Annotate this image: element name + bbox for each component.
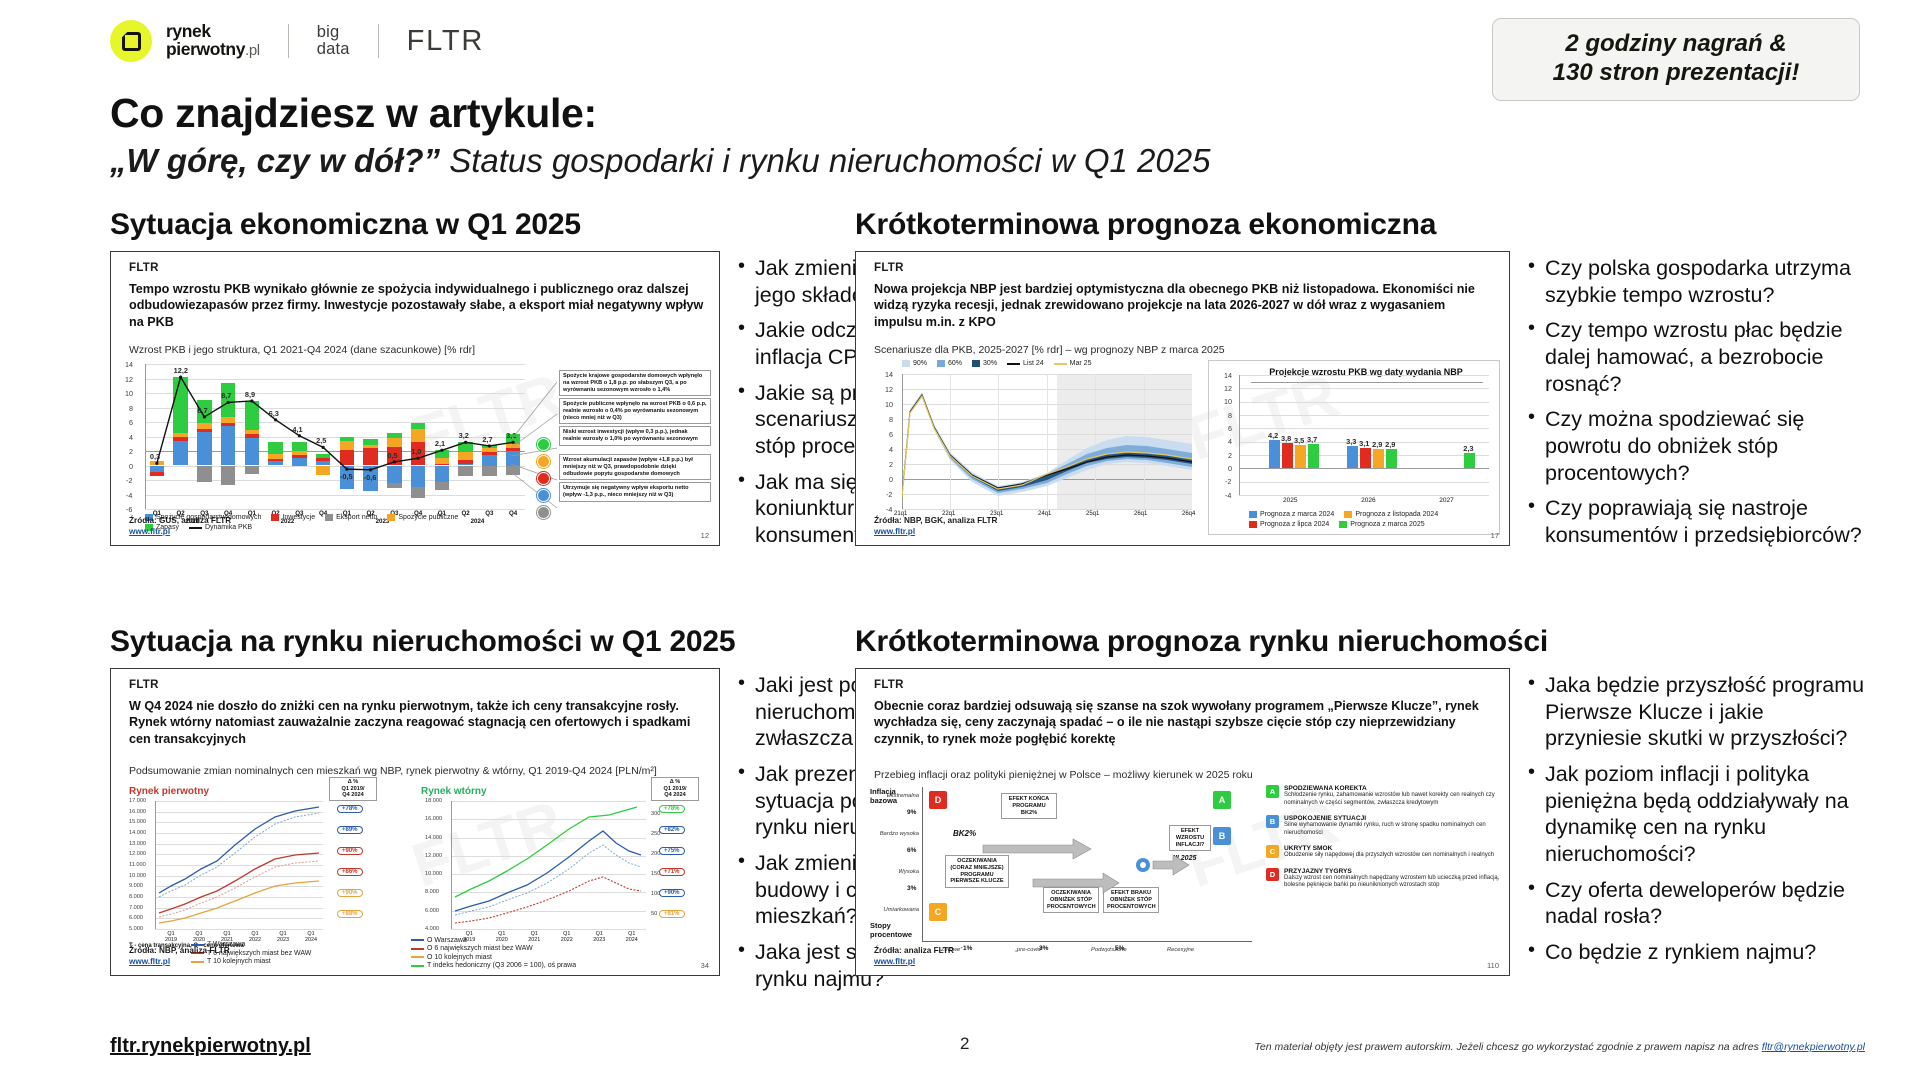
data-label: -0,5	[340, 472, 353, 481]
list-item: Co będzie z rynkiem najmu?	[1526, 939, 1865, 966]
scenario-text: Schłodzenie rynku, zahamowanie wzrostów …	[1284, 792, 1504, 807]
delta-header-l1: Δ %	[331, 779, 375, 786]
scenario-letter-badge: B	[1266, 815, 1279, 828]
legend-item: Spożycie publiczne	[387, 514, 458, 521]
data-label: 12,2	[174, 366, 188, 375]
data-label: 3,8	[1281, 434, 1291, 443]
page-subtitle: „W górę, czy w dół?” Status gospodarki i…	[110, 142, 1210, 180]
footer-legal-email[interactable]: fltr@rynekpierwotny.pl	[1762, 1041, 1865, 1053]
legend-item: O 10 kolejnych miast	[411, 954, 661, 961]
data-label: 8,9	[245, 390, 255, 399]
bigdata-line2: data	[317, 41, 350, 58]
y-tick-label: 9.000	[129, 883, 143, 889]
scenario-title: SPODZIEWANA KOREKTA	[1284, 785, 1504, 792]
data-label: 3,5	[1294, 436, 1304, 445]
y-tick-label: 17.000	[129, 798, 146, 804]
card-page-number: 17	[1491, 531, 1499, 540]
panel-title-primary-market: Rynek pierwotny	[129, 786, 209, 797]
data-label: 2,1	[435, 439, 445, 448]
matrix-x-label: „pre-covid”	[1015, 947, 1085, 953]
card-source-text: Źródła: NBP, BGK, analiza FLTR	[874, 515, 997, 526]
card-fltr-tag: FLTR	[874, 679, 904, 691]
legend-label: Prognoza z marca 2025	[1350, 521, 1424, 528]
data-label: -0,6	[364, 473, 377, 482]
brand-name-tld: .pl	[245, 42, 260, 59]
matrix-y-value: 3%	[907, 885, 916, 892]
up-arrow-icon	[537, 438, 550, 451]
scenario-title: UKRYTY SMOK	[1284, 845, 1494, 852]
card-headline: Nowa projekcja NBP jest bardziej optymis…	[874, 281, 1495, 330]
data-label: 3,1	[1359, 439, 1369, 448]
card-page-number: 12	[701, 531, 709, 540]
data-label: 6,3	[269, 409, 279, 418]
block-icon	[537, 506, 550, 519]
legend-label: O 10 kolejnych miast	[427, 954, 492, 961]
list-item: Jak poziom inflacji i polityka pieniężna…	[1526, 761, 1865, 868]
card-subtitle: Podsumowanie zmian nominalnych cen miesz…	[129, 765, 705, 777]
legend-item: 60%	[937, 360, 962, 367]
y-tick-label: 16.000	[129, 809, 146, 815]
data-label: 2,9	[1385, 440, 1395, 449]
subtitle-rest: Status gospodarki i rynku nieruchomości …	[440, 142, 1210, 179]
scenario-text: Silne wyhamowanie dynamiki rynku, ruch w…	[1284, 822, 1504, 837]
y-tick-label: 5.000	[129, 926, 143, 932]
y-tick-label: 14.000	[425, 835, 442, 841]
chart-card-inflation-matrix[interactable]: FLTR FLTR Obecnie coraz bardziej odsuwaj…	[855, 668, 1510, 976]
secondary-market-plot: 18.00016.00014.00012.00010.0008.0006.000…	[451, 801, 646, 929]
bar	[1347, 446, 1358, 468]
legend-color-swatch	[387, 514, 395, 521]
chart-callout: Wzrost akumulacji zapasów (wpływ +1,8 p.…	[559, 454, 711, 480]
list-item: Czy tempo wzrostu płac będzie dalej hamo…	[1526, 317, 1865, 397]
data-label: 0,5	[387, 451, 397, 460]
scenario-list: ASPODZIEWANA KOREKTASchłodzenie rynku, z…	[1266, 785, 1504, 898]
bar	[1360, 448, 1371, 469]
y-tick-label: 14.000	[129, 830, 146, 836]
chart-callout: Utrzymuje się negatywny wpływ eksportu n…	[559, 482, 711, 502]
legend-item: Eksport netto	[325, 514, 377, 521]
delta-badge: +78%	[659, 805, 685, 813]
delta-badge: +78%	[337, 805, 363, 813]
data-label: 2,5	[316, 436, 326, 445]
brand-divider-1	[288, 24, 289, 58]
delta-badge: +75%	[659, 847, 685, 855]
delta-badge: +90%	[337, 889, 363, 897]
card-page-number: 34	[701, 961, 709, 970]
legend-item: Prognoza z lipca 2024	[1249, 521, 1329, 528]
legend-label: 60%	[948, 360, 962, 367]
data-label: 8,7	[221, 391, 231, 400]
footer-legal-text: Ten materiał objęty jest prawem autorski…	[1254, 1041, 1761, 1053]
legend-color-swatch	[1249, 511, 1257, 518]
legend-label: Eksport netto	[336, 514, 377, 521]
projections-legend: Prognoza z marca 2024Prognoza z listopad…	[1249, 511, 1493, 528]
y-tick-label: 12.000	[129, 851, 146, 857]
data-label: 4,2	[1268, 431, 1278, 440]
x-tick-label: Q3	[478, 510, 502, 517]
matrix-x-value: 1%	[963, 945, 972, 952]
delta-header-r3: Q4 2024	[653, 792, 697, 799]
legend-label: 90%	[913, 360, 927, 367]
legend-line-swatch	[1007, 363, 1020, 365]
legend-item: O Warszawa	[411, 937, 661, 944]
brand-divider-2	[378, 24, 379, 58]
y-tick-label: 11.000	[129, 862, 146, 868]
y-tick-label: 18.000	[425, 798, 442, 804]
inflation-matrix-plot: EkstremalnaBardzo wysokaWysokaUmiarkowan…	[922, 787, 1252, 942]
page-title: Co znajdziesz w artykule:	[110, 90, 597, 137]
matrix-y-label: Umiarkowana	[871, 907, 919, 913]
data-label: 2,7	[482, 435, 492, 444]
brand-logo: rynek pierwotny.pl big data FLTR	[110, 20, 484, 62]
legend-label: Prognoza z lipca 2024	[1260, 521, 1329, 528]
data-label: 2,3	[1463, 444, 1473, 453]
data-label: 6,7	[197, 406, 207, 415]
card-subtitle: Wzrost PKB i jego struktura, Q1 2021-Q4 …	[129, 344, 705, 356]
y-tick-label: 6.000	[129, 915, 143, 921]
chart-callout: Niski wzrost inwestycji (wpływ 0,3 p.p.)…	[559, 426, 711, 446]
data-label: 0,3	[150, 452, 160, 461]
x-tick-label: 2027	[1439, 497, 1453, 504]
card-headline: Obecnie coraz bardziej odsuwają się szan…	[874, 698, 1495, 747]
delta-header-r1: Δ %	[653, 779, 697, 786]
fan-chart-plot: 14 12 10 8 6 4 2 0 -2 -4	[902, 374, 1192, 509]
x-tick-label: 24q1	[1038, 511, 1051, 517]
legend-color-swatch	[972, 360, 980, 367]
data-label: 2,9	[1372, 440, 1382, 449]
list-item: Jaka będzie przyszłość programu Pierwsze…	[1526, 672, 1865, 752]
legend-item: List 24	[1007, 360, 1044, 367]
card-source: Źródła: NBP, analiza FLTR www.fltr.pl	[129, 945, 230, 967]
delta-badge: +90%	[337, 847, 363, 855]
y2-tick-label: 300	[651, 811, 660, 817]
card-headline: W Q4 2024 nie doszło do zniżki cen na ry…	[129, 698, 705, 747]
slash-circle-icon	[537, 489, 550, 502]
legend-line-swatch	[411, 965, 424, 967]
card-page-number: 110	[1487, 961, 1499, 970]
section-economic-forecast: Krótkoterminowa prognoza ekonomiczna FLT…	[855, 208, 1865, 558]
delta-badge: +88%	[337, 910, 363, 918]
legend-line-swatch	[411, 956, 424, 958]
delta-header-left: Δ % Q1 2019/ Q4 2024	[329, 777, 377, 801]
x-tick-label: 26q1	[1134, 511, 1147, 517]
matrix-arrows	[923, 787, 1253, 942]
data-label: 4,1	[292, 425, 302, 434]
fltr-logo: FLTR	[407, 25, 485, 58]
legend-label: O 6 największych miast bez WAW	[427, 945, 533, 952]
scenario-letter-badge: D	[1266, 868, 1279, 881]
legend-label: 30%	[983, 360, 997, 367]
fan-chart-bands	[902, 374, 1192, 509]
legend-label: Prognoza z listopada 2024	[1355, 511, 1438, 518]
chart-card-housing-prices[interactable]: FLTR FLTR W Q4 2024 nie doszło do zniżki…	[110, 668, 720, 976]
legend-item: 30%	[972, 360, 997, 367]
scenario-item: BUSPOKOJENIE SYTUACJISilne wyhamowanie d…	[1266, 815, 1504, 837]
matrix-x-label: Podwyższone	[1091, 947, 1161, 953]
legend-label: List 24	[1023, 360, 1044, 367]
card-subtitle: Scenariusze dla PKB, 2025-2027 [% rdr] –…	[874, 344, 1495, 356]
bullet-list-property-forecast: Jaka będzie przyszłość programu Pierwsze…	[1526, 668, 1865, 975]
panel-title-secondary-market: Rynek wtórny	[421, 786, 487, 797]
x-tick-label: 2025	[1283, 497, 1297, 504]
secondary-market-lines	[451, 801, 646, 929]
scenario-item: CUKRYTY SMOKObudzenie siły napędowej dla…	[1266, 845, 1504, 860]
legend-item: 90%	[902, 360, 927, 367]
projections-panel: Projekcje wzrostu PKB wg daty wydania NB…	[1208, 360, 1500, 535]
scenario-text: Obudzenie siły napędowej dla przyszłych …	[1284, 852, 1494, 860]
card-fltr-tag: FLTR	[129, 262, 159, 274]
x-tick-label: 26q4	[1182, 511, 1195, 517]
legend-item: T indeks hedoniczny (Q3 2006 = 100), oś …	[411, 962, 661, 969]
list-item: Czy poprawiają się nastroje konsumentów …	[1526, 495, 1865, 548]
list-item: Czy polska gospodarka utrzyma szybkie te…	[1526, 255, 1865, 308]
legend-item: Mar 25	[1054, 360, 1092, 367]
legend-color-swatch	[937, 360, 945, 367]
delta-header-l2: Q1 2019/	[331, 786, 375, 793]
delta-header-r2: Q1 2019/	[653, 786, 697, 793]
y-tick-label: 15.000	[129, 819, 146, 825]
legend-label: Spożycie publiczne	[398, 514, 458, 521]
x-tick-label: Q1 2019	[157, 931, 185, 943]
bigdata-logo: big data	[317, 24, 350, 59]
card-fltr-tag: FLTR	[874, 262, 904, 274]
legend-item: Prognoza z marca 2024	[1249, 511, 1334, 518]
x-axis-title-l2: procentowe	[870, 930, 912, 939]
matrix-x-value: 5%	[1115, 945, 1124, 952]
y-tick-label: 4.000	[425, 926, 439, 932]
card-source: Źródła: NBP, BGK, analiza FLTR www.fltr.…	[874, 515, 997, 537]
scenario-item: ASPODZIEWANA KOREKTASchłodzenie rynku, z…	[1266, 785, 1504, 807]
brand-name: rynek pierwotny.pl	[166, 23, 260, 59]
y-tick-label: 8.000	[425, 889, 439, 895]
brand-name-line2: pierwotny	[166, 39, 245, 59]
card-source-url[interactable]: www.fltr.pl	[129, 956, 230, 967]
y-tick-label: 7.000	[129, 905, 143, 911]
matrix-y-label: Ekstremalna	[871, 793, 919, 799]
matrix-x-value: 3%	[1039, 945, 1048, 952]
chart-callout: Spożycie krajowe gospodarstw domowych wp…	[559, 370, 711, 396]
delta-header-l3: Q4 2024	[331, 792, 375, 799]
matrix-y-label: Wysoka	[871, 869, 919, 875]
legend-label: Inwestycje	[282, 514, 315, 521]
data-label: 3,2	[459, 431, 469, 440]
legend-label: Prognoza z marca 2024	[1260, 511, 1334, 518]
legend-line-swatch	[411, 948, 424, 950]
promo-badge-line1: 2 godziny nagrań &	[1499, 29, 1853, 58]
list-item: Czy można spodziewać się powrotu do obni…	[1526, 406, 1865, 486]
card-source-url[interactable]: www.fltr.pl	[874, 956, 954, 967]
section-title: Krótkoterminowa prognoza rynku nieruchom…	[855, 625, 1865, 659]
chart-callout: Spożycie publiczne wpłynęło na wzrost PK…	[559, 398, 711, 424]
primary-market-plot: 17.00016.00015.00014.00013.00012.00011.0…	[155, 801, 323, 929]
primary-market-lines	[155, 801, 323, 929]
bigdata-line1: big	[317, 24, 350, 41]
y2-tick-label: 50	[651, 911, 657, 917]
bar	[1464, 453, 1475, 468]
y-tick-label: 6.000	[425, 908, 439, 914]
delta-badge: +86%	[337, 868, 363, 876]
y-tick-label: 16.000	[425, 816, 442, 822]
y-tick-label: 12.000	[425, 853, 442, 859]
scenario-text: Dalszy wzrost cen nominalnych napędzany …	[1284, 875, 1504, 890]
fan-chart-legend: 90%60%30%List 24Mar 25	[902, 360, 1192, 367]
matrix-y-value: 6%	[907, 847, 916, 854]
scenario-title: PRZYJAZNY TYGRYS	[1284, 868, 1504, 875]
promo-badge: 2 godziny nagrań & 130 stron prezentacji…	[1492, 18, 1860, 101]
no-entry-icon	[537, 472, 550, 485]
matrix-y-value: 9%	[907, 809, 916, 816]
card-source: Źródła: analiza FLTR www.fltr.pl	[874, 945, 954, 967]
card-headline: Tempo wzrostu PKB wynikało głównie ze sp…	[129, 281, 705, 330]
footer-page-number: 2	[960, 1034, 969, 1054]
x-axis-title-l1: Stopy	[870, 921, 912, 930]
bar	[1373, 449, 1384, 468]
data-label: 3,3	[1346, 437, 1356, 446]
legend-item: Inwestycje	[271, 514, 315, 521]
x-axis-title: Stopy procentowe	[870, 921, 912, 939]
page-header: rynek pierwotny.pl big data FLTR 2 godzi…	[0, 0, 1920, 80]
data-label: 1,0	[411, 447, 421, 456]
bar	[1386, 449, 1397, 468]
legend-line-swatch	[411, 939, 424, 941]
section-property-forecast: Krótkoterminowa prognoza rynku nieruchom…	[855, 625, 1865, 976]
scenario-letter-badge: A	[1266, 785, 1279, 798]
gdp-plot-area: 14 12 10 8 6 4 2 0 -2 -4 -6 0,312,26,78,…	[145, 364, 525, 509]
card-fltr-tag: FLTR	[129, 679, 159, 691]
legend-label: Mar 25	[1070, 360, 1092, 367]
minus-circle-icon	[537, 455, 550, 468]
chart-card-nbp-projection[interactable]: FLTR FLTR Nowa projekcja NBP jest bardzi…	[855, 251, 1510, 546]
card-source-text: Źródła: analiza FLTR	[874, 945, 954, 956]
card-source-url[interactable]: www.fltr.pl	[874, 526, 997, 537]
delta-header-right: Δ % Q1 2019/ Q4 2024	[651, 777, 699, 801]
matrix-x-label: Recesyjne	[1167, 947, 1237, 953]
delta-badge: +82%	[659, 826, 685, 834]
subtitle-quote: „W górę, czy w dół?”	[110, 142, 440, 179]
list-item: Czy oferta deweloperów będzie nadal rosł…	[1526, 877, 1865, 930]
matrix-y-label: Bardzo wysoka	[871, 831, 919, 837]
legend-color-swatch	[1249, 521, 1257, 528]
rounded-square-logo-icon	[110, 20, 152, 62]
x-tick-label: 25q1	[1086, 511, 1099, 517]
legend-line-swatch	[1054, 363, 1067, 365]
card-source-text: Źródła: GUS, analiza FLTR	[129, 515, 231, 526]
bullet-list-forecast: Czy polska gospodarka utrzyma szybkie te…	[1526, 251, 1865, 558]
legend-color-swatch	[1344, 511, 1352, 518]
card-source: Źródła: GUS, analiza FLTR www.fltr.pl	[129, 515, 231, 537]
card-source-text: Źródła: NBP, analiza FLTR	[129, 945, 230, 956]
scenario-item: DPRZYJAZNY TYGRYSDalszy wzrost cen nomin…	[1266, 868, 1504, 890]
legend-item: O 6 największych miast bez WAW	[411, 945, 661, 952]
footer-link[interactable]: fltr.rynekpierwotny.pl	[110, 1035, 311, 1058]
data-label: 3,7	[1307, 435, 1317, 444]
delta-badge: +71%	[659, 868, 685, 876]
y-tick-label: 10.000	[129, 873, 146, 879]
legend-item: Prognoza z marca 2025	[1339, 521, 1424, 528]
y-tick-label: 13.000	[129, 841, 146, 847]
promo-badge-line2: 130 stron prezentacji!	[1499, 58, 1853, 87]
y-tick-label: 8.000	[129, 894, 143, 900]
scenario-letter-badge: C	[1266, 845, 1279, 858]
legend-color-swatch	[325, 514, 333, 521]
legend-color-swatch	[1339, 521, 1347, 528]
y-tick-label: 10.000	[425, 871, 442, 877]
x-tick-label: 2026	[1361, 497, 1375, 504]
delta-badge: +90%	[659, 889, 685, 897]
secondary-legend: O WarszawaO 6 największych miast bez WAW…	[411, 937, 661, 970]
bar	[1308, 444, 1319, 469]
card-source-url[interactable]: www.fltr.pl	[129, 526, 231, 537]
bar	[1269, 440, 1280, 468]
legend-color-swatch	[271, 514, 279, 521]
delta-badge: +89%	[337, 826, 363, 834]
chart-card-gdp-structure[interactable]: FLTR FLTR Tempo wzrostu PKB wynikało głó…	[110, 251, 720, 546]
section-title: Krótkoterminowa prognoza ekonomiczna	[855, 208, 1865, 242]
legend-color-swatch	[902, 360, 910, 367]
projections-plot: 14 12 10 8 6 4 2 0 -2 -4 4,23,83,53,73,3…	[1239, 375, 1489, 495]
bar	[1282, 443, 1293, 468]
footer-legal: Ten materiał objęty jest prawem autorski…	[1254, 1041, 1865, 1053]
delta-badge: +81%	[659, 910, 685, 918]
legend-label: O Warszawa	[427, 937, 467, 944]
scenario-title: USPOKOJENIE SYTUACJI	[1284, 815, 1504, 822]
bar	[1295, 445, 1306, 468]
legend-label: T indeks hedoniczny (Q3 2006 = 100), oś …	[427, 962, 576, 969]
legend-item: Prognoza z listopada 2024	[1344, 511, 1438, 518]
card-subtitle: Przebieg inflacji oraz polityki pieniężn…	[874, 769, 1495, 781]
